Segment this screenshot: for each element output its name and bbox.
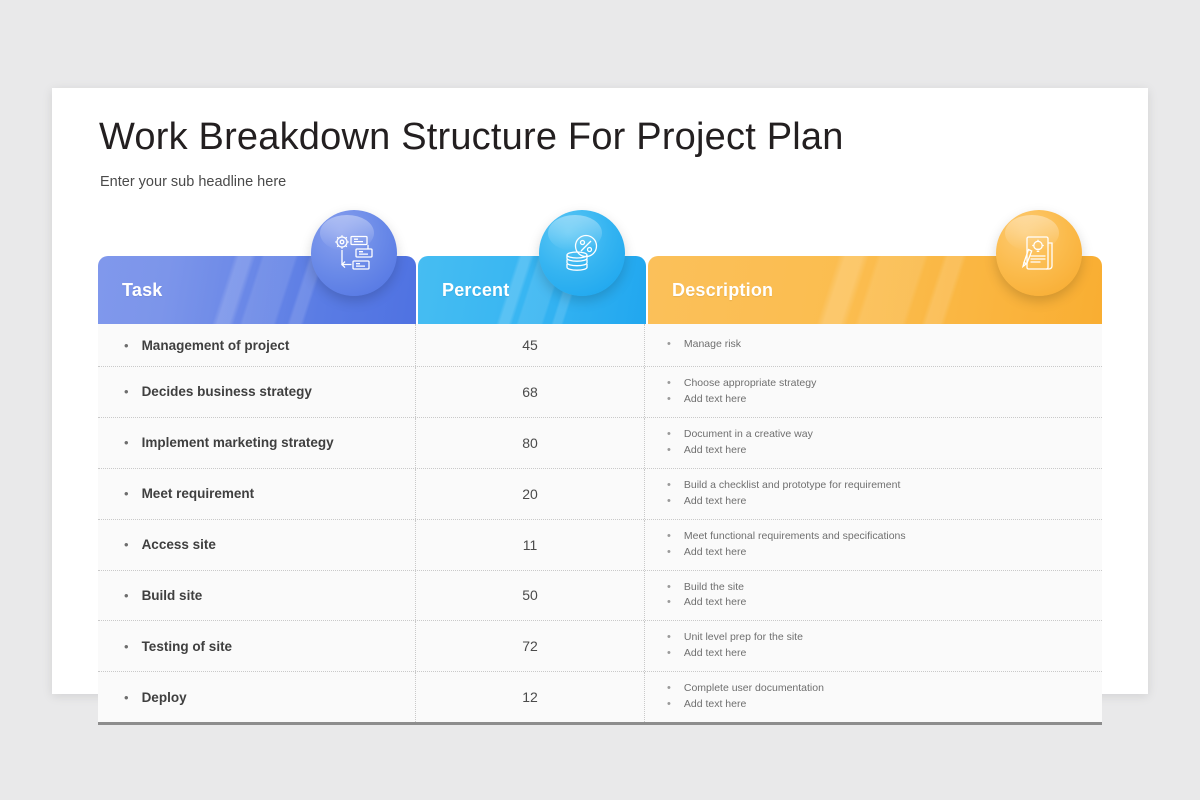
cell-percent: 11 bbox=[416, 520, 645, 570]
description-text: Add text here bbox=[684, 595, 746, 610]
description-line: • Add text here bbox=[667, 494, 1092, 510]
cell-description: • Build the site • Add text here bbox=[645, 571, 1102, 621]
bullet-icon: • bbox=[667, 337, 671, 353]
description-text: Choose appropriate strategy bbox=[684, 376, 817, 391]
table-row[interactable]: • Decides business strategy 68 • Choose … bbox=[98, 367, 1102, 418]
description-line: • Add text here bbox=[667, 545, 1092, 561]
task-label: Deploy bbox=[142, 690, 187, 705]
bullet-icon: • bbox=[667, 392, 671, 408]
cell-percent: 45 bbox=[416, 324, 645, 366]
column-header-percent-label: Percent bbox=[418, 280, 509, 301]
description-text: Manage risk bbox=[684, 337, 741, 352]
description-text: Build a checklist and prototype for requ… bbox=[684, 478, 901, 493]
table-header-row: Task Percent Description bbox=[98, 256, 1102, 324]
bullet-icon: • bbox=[124, 589, 129, 602]
bullet-icon: • bbox=[124, 691, 129, 704]
cell-description: • Meet functional requirements and speci… bbox=[645, 520, 1102, 570]
cell-description: • Build a checklist and prototype for re… bbox=[645, 469, 1102, 519]
description-text: Add text here bbox=[684, 392, 746, 407]
task-label: Testing of site bbox=[142, 639, 233, 654]
cell-task: • Meet requirement bbox=[98, 469, 416, 519]
cell-task: • Management of project bbox=[98, 324, 416, 366]
bullet-icon: • bbox=[667, 630, 671, 646]
description-text: Add text here bbox=[684, 646, 746, 661]
task-label: Meet requirement bbox=[142, 486, 255, 501]
slide-canvas: Work Breakdown Structure For Project Pla… bbox=[52, 88, 1148, 694]
description-line: • Manage risk bbox=[667, 337, 1092, 353]
bullet-icon: • bbox=[667, 697, 671, 713]
description-line: • Add text here bbox=[667, 697, 1092, 713]
table-bottom-rule bbox=[98, 722, 1102, 725]
bullet-icon: • bbox=[667, 478, 671, 494]
cell-task: • Implement marketing strategy bbox=[98, 418, 416, 468]
bullet-icon: • bbox=[124, 487, 129, 500]
bullet-icon: • bbox=[667, 443, 671, 459]
bullet-icon: • bbox=[124, 436, 129, 449]
cell-percent: 12 bbox=[416, 672, 645, 722]
description-text: Add text here bbox=[684, 545, 746, 560]
description-text: Document in a creative way bbox=[684, 427, 813, 442]
cell-task: • Decides business strategy bbox=[98, 367, 416, 417]
cell-percent: 72 bbox=[416, 621, 645, 671]
description-line: • Add text here bbox=[667, 646, 1092, 662]
description-line: • Document in a creative way bbox=[667, 427, 1092, 443]
description-line: • Build a checklist and prototype for re… bbox=[667, 478, 1092, 494]
description-text: Add text here bbox=[684, 443, 746, 458]
bullet-icon: • bbox=[667, 580, 671, 596]
workflow-process-icon bbox=[311, 210, 397, 296]
cell-task: • Access site bbox=[98, 520, 416, 570]
table-row[interactable]: • Testing of site 72 • Unit level prep f… bbox=[98, 621, 1102, 672]
table-row[interactable]: • Build site 50 • Build the site • Add t… bbox=[98, 571, 1102, 622]
task-label: Build site bbox=[142, 588, 203, 603]
wbs-table: Task Percent Description bbox=[98, 256, 1102, 725]
description-line: • Add text here bbox=[667, 443, 1092, 459]
description-line: • Build the site bbox=[667, 580, 1092, 596]
cell-task: • Deploy bbox=[98, 672, 416, 722]
bullet-icon: • bbox=[124, 538, 129, 551]
column-header-task-label: Task bbox=[98, 280, 163, 301]
cell-percent: 80 bbox=[416, 418, 645, 468]
task-label: Management of project bbox=[142, 338, 290, 353]
description-text: Build the site bbox=[684, 580, 744, 595]
task-label: Decides business strategy bbox=[142, 384, 312, 399]
table-row[interactable]: • Meet requirement 20 • Build a checklis… bbox=[98, 469, 1102, 520]
cell-description: • Complete user documentation • Add text… bbox=[645, 672, 1102, 722]
task-label: Implement marketing strategy bbox=[142, 435, 334, 450]
table-row[interactable]: • Deploy 12 • Complete user documentatio… bbox=[98, 672, 1102, 722]
cell-task: • Testing of site bbox=[98, 621, 416, 671]
bullet-icon: • bbox=[124, 385, 129, 398]
description-line: • Unit level prep for the site bbox=[667, 630, 1092, 646]
cell-percent: 50 bbox=[416, 571, 645, 621]
description-text: Meet functional requirements and specifi… bbox=[684, 529, 906, 544]
table-row[interactable]: • Implement marketing strategy 80 • Docu… bbox=[98, 418, 1102, 469]
bullet-icon: • bbox=[667, 646, 671, 662]
description-text: Complete user documentation bbox=[684, 681, 824, 696]
percent-coins-icon bbox=[539, 210, 625, 296]
table-body: • Management of project 45 • Manage risk… bbox=[98, 324, 1102, 722]
cell-description: • Choose appropriate strategy • Add text… bbox=[645, 367, 1102, 417]
bullet-icon: • bbox=[667, 494, 671, 510]
bullet-icon: • bbox=[667, 427, 671, 443]
column-header-description-label: Description bbox=[648, 280, 773, 301]
table-row[interactable]: • Management of project 45 • Manage risk bbox=[98, 324, 1102, 367]
bullet-icon: • bbox=[667, 681, 671, 697]
bullet-icon: • bbox=[667, 545, 671, 561]
cell-task: • Build site bbox=[98, 571, 416, 621]
description-line: • Meet functional requirements and speci… bbox=[667, 529, 1092, 545]
cell-percent: 68 bbox=[416, 367, 645, 417]
bullet-icon: • bbox=[667, 376, 671, 392]
description-text: Add text here bbox=[684, 697, 746, 712]
bullet-icon: • bbox=[124, 640, 129, 653]
page-title: Work Breakdown Structure For Project Pla… bbox=[99, 116, 844, 159]
cell-percent: 20 bbox=[416, 469, 645, 519]
description-text: Add text here bbox=[684, 494, 746, 509]
cell-description: • Manage risk bbox=[645, 324, 1102, 366]
description-line: • Complete user documentation bbox=[667, 681, 1092, 697]
description-text: Unit level prep for the site bbox=[684, 630, 803, 645]
table-row[interactable]: • Access site 11 • Meet functional requi… bbox=[98, 520, 1102, 571]
bullet-icon: • bbox=[124, 339, 129, 352]
description-line: • Choose appropriate strategy bbox=[667, 376, 1092, 392]
document-idea-icon bbox=[996, 210, 1082, 296]
bullet-icon: • bbox=[667, 529, 671, 545]
task-label: Access site bbox=[142, 537, 216, 552]
cell-description: • Unit level prep for the site • Add tex… bbox=[645, 621, 1102, 671]
page-subtitle: Enter your sub headline here bbox=[100, 174, 286, 190]
description-line: • Add text here bbox=[667, 595, 1092, 611]
bullet-icon: • bbox=[667, 595, 671, 611]
description-line: • Add text here bbox=[667, 392, 1092, 408]
cell-description: • Document in a creative way • Add text … bbox=[645, 418, 1102, 468]
